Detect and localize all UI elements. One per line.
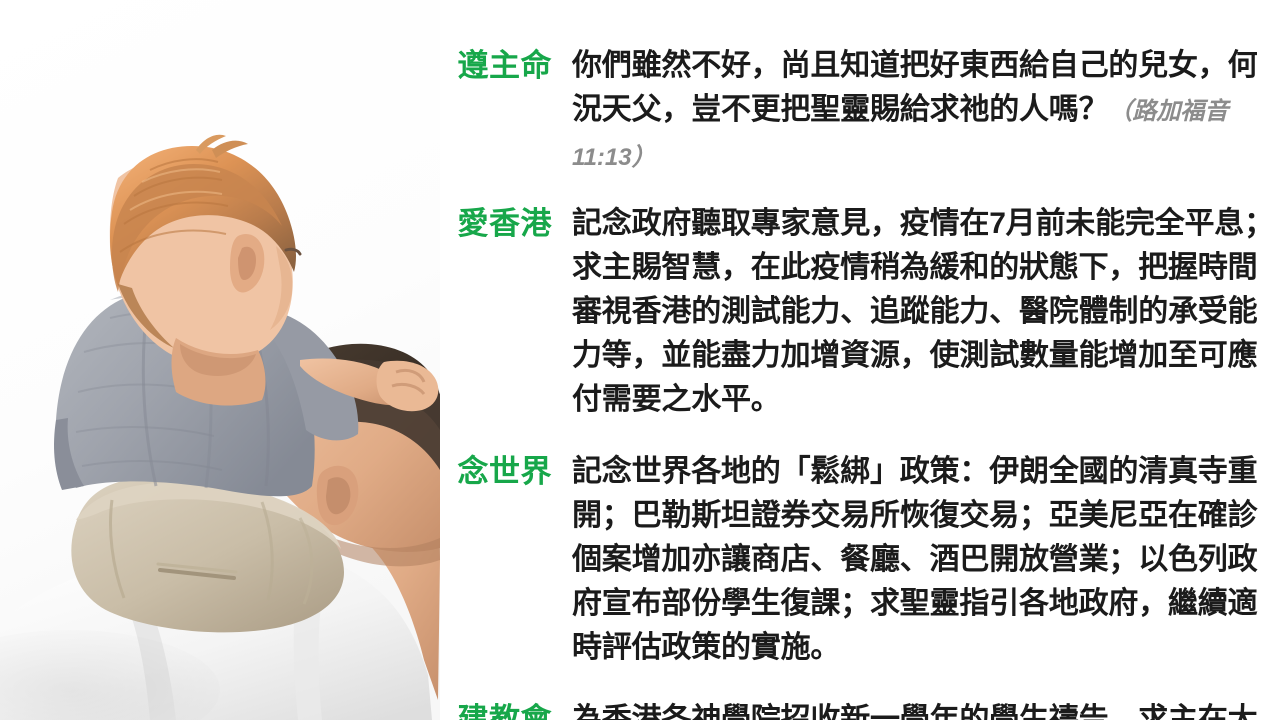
prayer-item-text: 記念世界各地的「鬆綁」政策：伊朗全國的清真寺重開；巴勒斯坦證券交易所恢復交易；亞…	[572, 455, 1257, 664]
prayer-item-body: 記念政府聽取專家意見，疫情在7月前未能完全平息；求主賜智慧，在此疫情稍為緩和的狀…	[572, 202, 1280, 424]
prayer-items-column: 遵主命 你們雖然不好，尚且知道把好東西給自己的兒女，何況天父，豈不更把聖靈賜給求…	[440, 0, 1280, 720]
prayer-item-body: 為香港各神學院招收新一學年的學生禱告，求主在大時代中感動弟兄姊妹起來服事，在艱難…	[572, 698, 1280, 720]
prayer-item-heading: 遵主命	[440, 44, 572, 88]
prayer-slide: 遵主命 你們雖然不好，尚且知道把好東西給自己的兒女，何況天父，豈不更把聖靈賜給求…	[0, 0, 1280, 720]
prayer-item: 建教會 為香港各神學院招收新一學年的學生禱告，求主在大時代中感動弟兄姊妹起來服事…	[440, 698, 1280, 720]
prayer-item-text: 為香港各神學院招收新一學年的學生禱告，求主在大時代中感動弟兄姊妹起來服事，在艱難…	[572, 703, 1257, 720]
photo-illustration	[0, 0, 440, 720]
prayer-item-heading: 建教會	[440, 698, 572, 720]
prayer-item-heading: 念世界	[440, 450, 572, 494]
prayer-item: 愛香港 記念政府聽取專家意見，疫情在7月前未能完全平息；求主賜智慧，在此疫情稍為…	[440, 202, 1280, 424]
father-and-child-photo	[0, 0, 440, 720]
prayer-item-heading: 愛香港	[440, 202, 572, 246]
prayer-item-body: 記念世界各地的「鬆綁」政策：伊朗全國的清真寺重開；巴勒斯坦證券交易所恢復交易；亞…	[572, 450, 1280, 672]
prayer-item-body: 你們雖然不好，尚且知道把好東西給自己的兒女，何況天父，豈不更把聖靈賜給求祂的人嗎…	[572, 44, 1280, 180]
prayer-item: 念世界 記念世界各地的「鬆綁」政策：伊朗全國的清真寺重開；巴勒斯坦證券交易所恢復…	[440, 450, 1280, 672]
prayer-item: 遵主命 你們雖然不好，尚且知道把好東西給自己的兒女，何況天父，豈不更把聖靈賜給求…	[440, 44, 1280, 180]
prayer-item-text: 記念政府聽取專家意見，疫情在7月前未能完全平息；求主賜智慧，在此疫情稍為緩和的狀…	[572, 207, 1274, 416]
